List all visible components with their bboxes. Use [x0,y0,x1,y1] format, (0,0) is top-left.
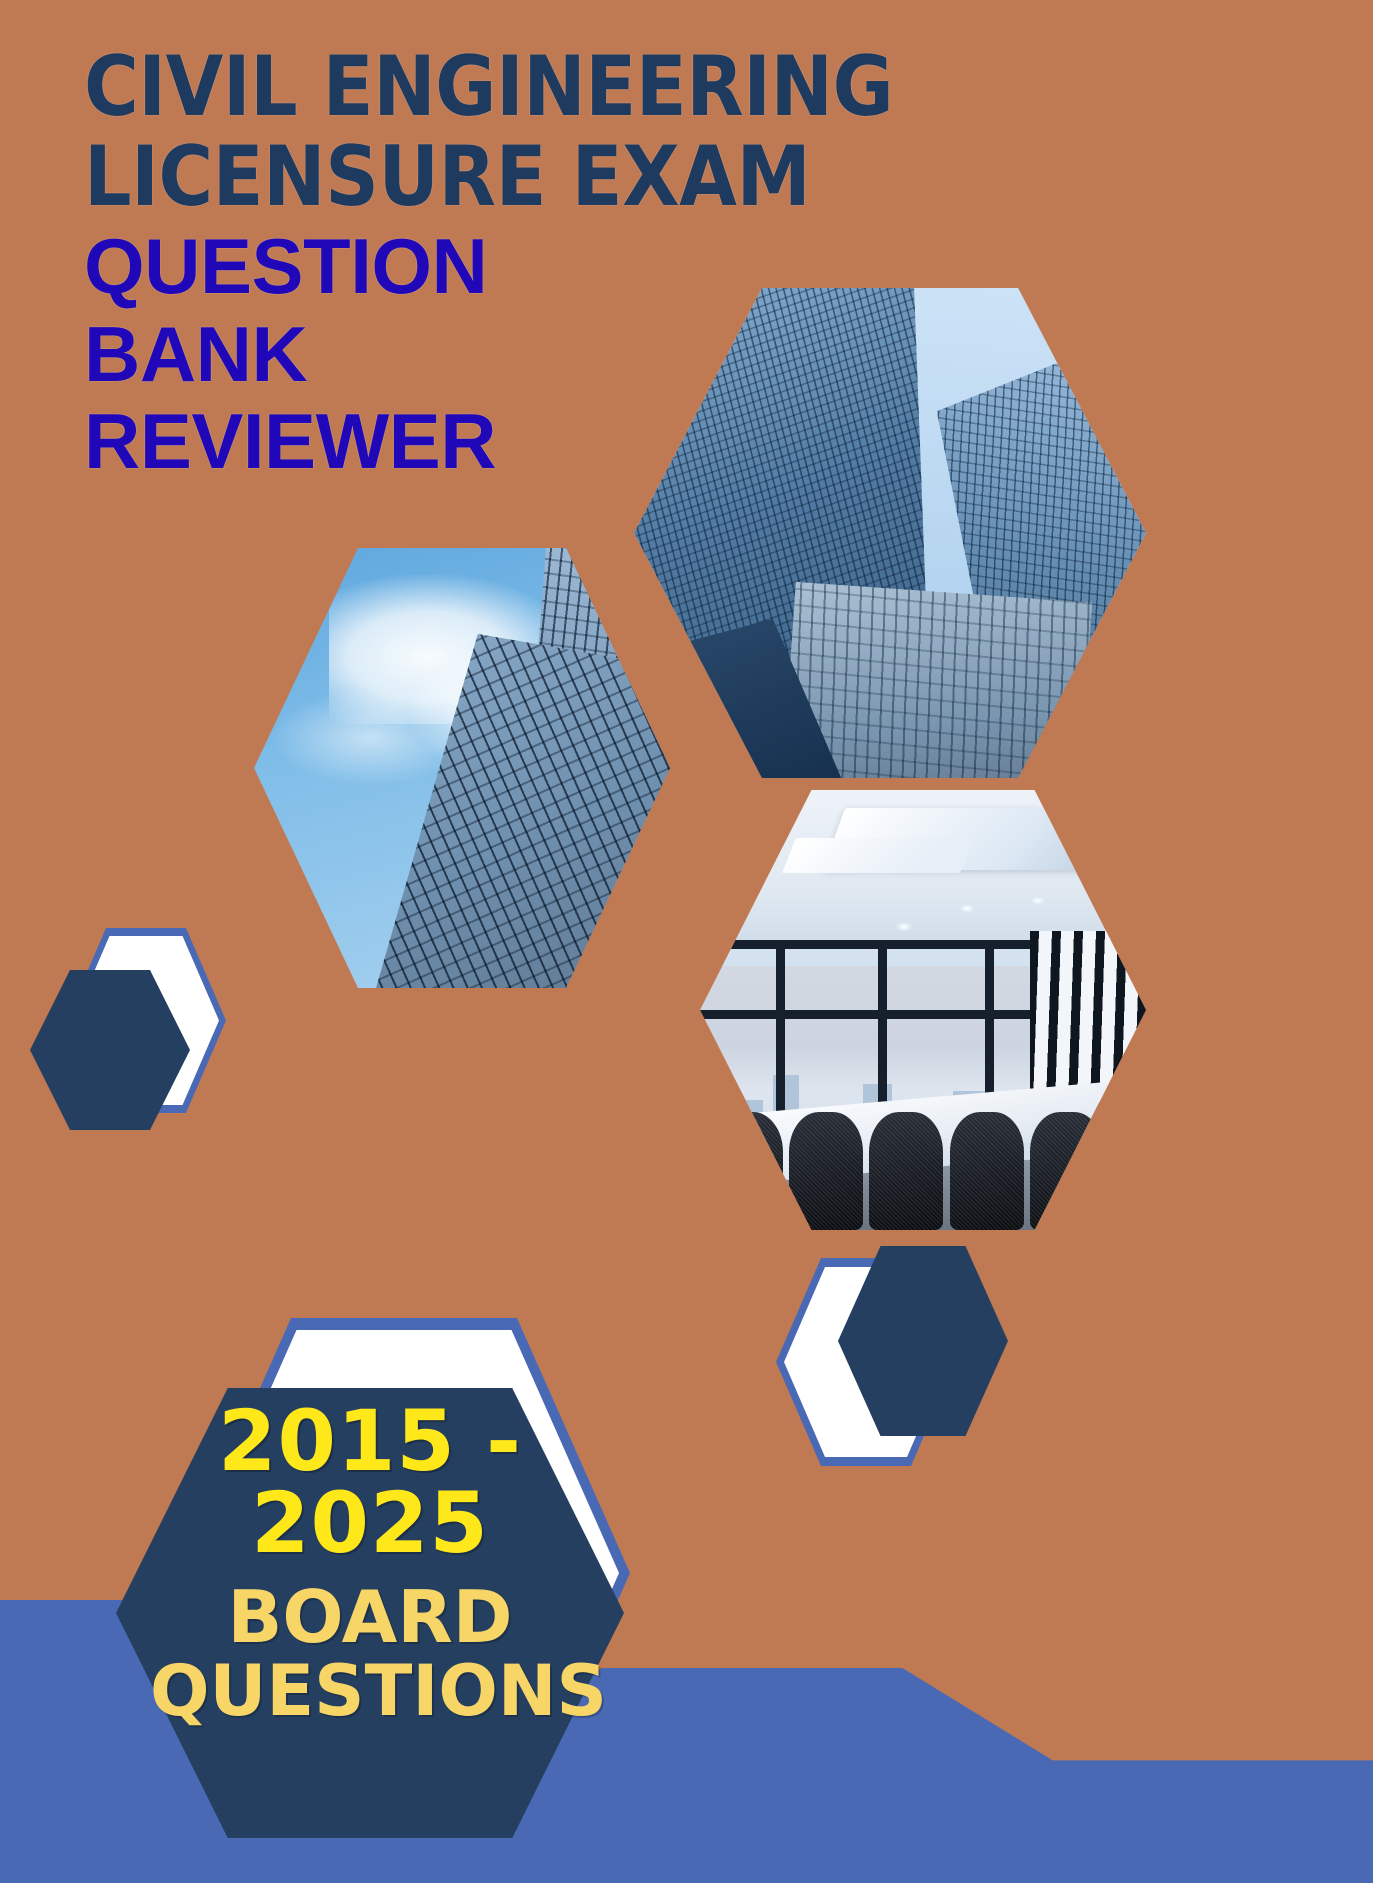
window-mullion-horizontal [700,1010,1039,1019]
office-chair [869,1112,943,1230]
title-line-bank: BANK [84,316,924,393]
book-cover: CIVIL ENGINEERING LICENSURE EXAM QUESTIO… [0,0,1373,1883]
badge-subtitle-board: BOARD [150,1581,590,1654]
badge-years-line-2: 2025 [150,1482,590,1564]
downlight-2 [1030,896,1046,905]
title-line-reviewer: REVIEWER [84,403,924,480]
office-chair [950,1112,1024,1230]
ceiling-light-panel-2 [782,838,975,873]
cover-title-block: CIVIL ENGINEERING LICENSURE EXAM QUESTIO… [84,46,924,480]
badge-text-block: 2015 - 2025 BOARD QUESTIONS [150,1400,590,1727]
title-line-civil-engineering: CIVIL ENGINEERING [84,46,924,128]
badge-subtitle-questions: QUESTIONS [150,1656,590,1727]
title-line-licensure-exam: LICENSURE EXAM [84,136,924,218]
window-mullion-horizontal [700,940,1039,949]
title-line-question: QUESTION [84,228,924,305]
badge-years-line-1: 2015 - [150,1400,590,1482]
